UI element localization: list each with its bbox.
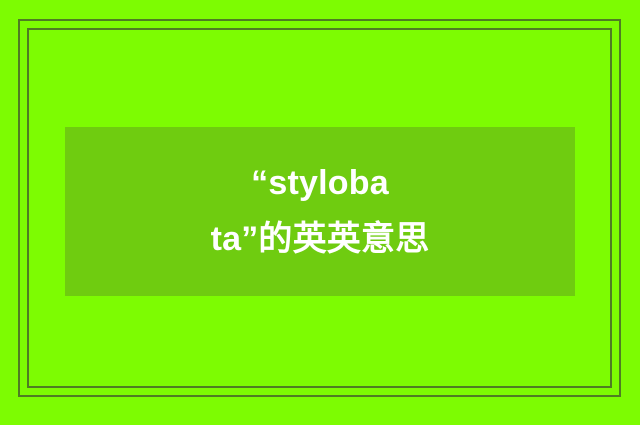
headline-plate: “styloba ta”的英英意思 xyxy=(65,127,575,296)
title-card-canvas: “styloba ta”的英英意思 xyxy=(0,0,640,425)
page-title: “styloba ta”的英英意思 xyxy=(201,156,440,266)
